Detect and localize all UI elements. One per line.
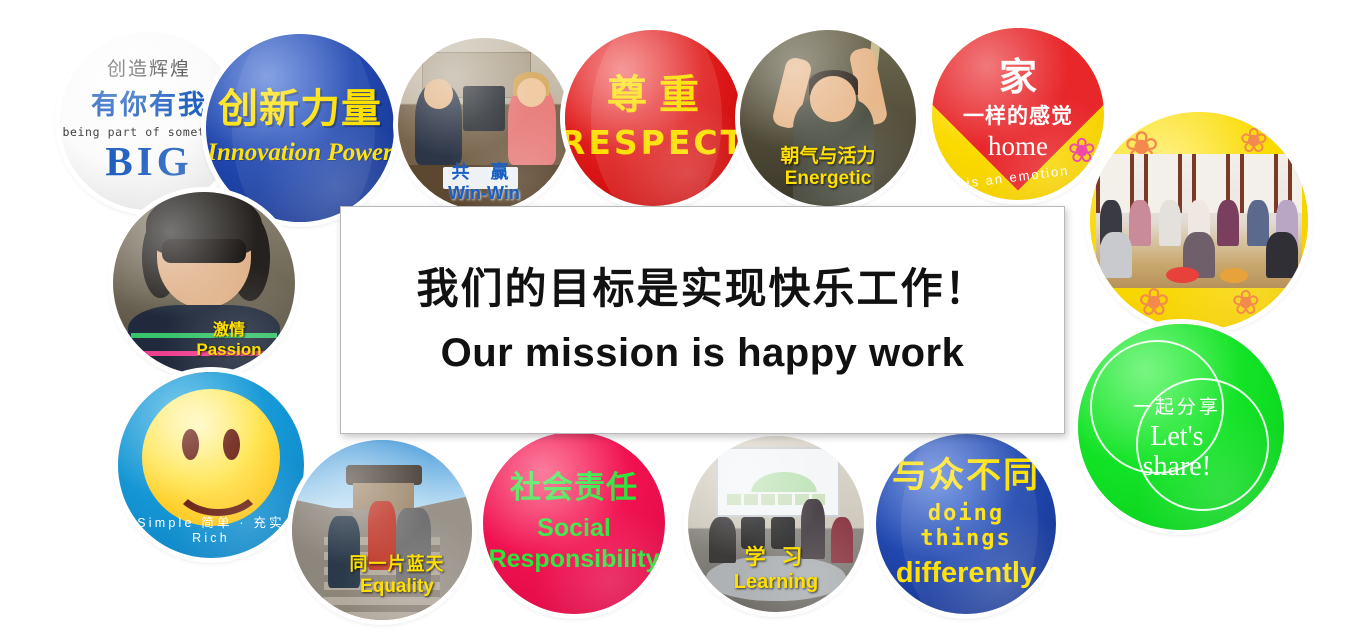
social-chinese: 社会责任 xyxy=(510,472,638,503)
share-english2: share! xyxy=(1123,451,1230,483)
smiley-face-icon xyxy=(142,389,280,527)
different-english1: doing things xyxy=(876,501,1056,551)
mission-chinese: 我们的目标是实现快乐工作！ xyxy=(416,264,988,314)
badge-equality[interactable]: 同一片蓝天 Equality xyxy=(292,440,472,620)
badge-energetic[interactable]: 朝气与活力 Energetic xyxy=(740,30,916,206)
respect-chinese: 尊重 xyxy=(595,75,711,115)
social-english2: Responsibility xyxy=(489,545,660,574)
badge-doing-things-differently[interactable]: 与众不同 doing things differently xyxy=(876,434,1056,614)
social-english1: Social xyxy=(537,514,611,543)
badge-collage: 创造辉煌 有你有我 being part of something BIG 创新… xyxy=(0,0,1366,635)
energetic-caption: 朝气与活力 Energetic xyxy=(740,141,916,190)
innovation-chinese: 创新力量 xyxy=(218,89,382,129)
learning-caption: 学 习 Learning xyxy=(688,541,864,594)
innovation-english: Innovation Power xyxy=(207,139,392,167)
different-chinese: 与众不同 xyxy=(892,458,1040,493)
flower-icon: ❀ xyxy=(1138,284,1170,322)
badge-passion[interactable]: 激情 Passion xyxy=(113,192,295,374)
big-line2: 有你有我 xyxy=(91,83,207,122)
energetic-english: Energetic xyxy=(740,168,916,190)
learning-english: Learning xyxy=(688,571,864,594)
team-photo xyxy=(1096,154,1302,288)
badge-respect[interactable]: 尊重 RESPECT xyxy=(565,30,741,206)
winwin-caption: Win-Win xyxy=(398,183,570,204)
win-win-photo: 共 赢 xyxy=(398,38,570,210)
badge-home-is-an-emotion[interactable]: ❀ 家 一样的感觉 home is an emotion xyxy=(932,28,1104,200)
home-chinese2: 一样的感觉 xyxy=(963,100,1073,130)
badge-learning[interactable]: 学 习 Learning xyxy=(688,436,864,612)
badge-team-group-photo[interactable]: ❀ ❀ ❀ ❀ ❀ xyxy=(1090,112,1308,330)
equality-chinese: 同一片蓝天 xyxy=(326,550,468,576)
mission-english: Our mission is happy work xyxy=(441,331,965,376)
learning-chinese: 学 习 xyxy=(688,541,864,571)
share-english1: Let's xyxy=(1123,421,1230,453)
home-chinese1: 家 xyxy=(999,59,1037,97)
big-line4: BIG xyxy=(105,141,192,182)
respect-english: RESPECT xyxy=(565,123,741,162)
badge-lets-share[interactable]: 一起分享 Let's share! xyxy=(1078,324,1284,530)
passion-english: Passion xyxy=(169,340,289,360)
different-english2: differently xyxy=(896,557,1036,590)
energetic-chinese: 朝气与活力 xyxy=(740,141,916,168)
big-line1: 创造辉煌 xyxy=(107,60,191,81)
equality-english: Equality xyxy=(326,576,468,598)
equality-caption: 同一片蓝天 Equality xyxy=(326,550,468,598)
share-chinese: 一起分享 xyxy=(1123,392,1230,419)
winwin-english: Win-Win xyxy=(398,183,570,204)
badge-social-responsibility[interactable]: 社会责任 Social Responsibility xyxy=(483,432,665,614)
flower-icon: ❀ xyxy=(1232,286,1261,320)
mission-banner: 我们的目标是实现快乐工作！ Our mission is happy work xyxy=(340,206,1065,434)
badge-simple-rich[interactable]: Simple 简单 · 充实 Rich xyxy=(118,372,304,558)
passion-caption: 激情 Passion xyxy=(169,316,289,360)
passion-chinese: 激情 xyxy=(169,316,289,340)
simple-arc-text: Simple 简单 · 充实 Rich xyxy=(118,512,304,545)
badge-win-win[interactable]: 共 赢 Win-Win xyxy=(398,38,570,210)
home-english: home xyxy=(988,131,1048,162)
flower-icon: ❀ xyxy=(1240,124,1269,158)
winwin-chinese: 共 赢 xyxy=(398,158,570,184)
